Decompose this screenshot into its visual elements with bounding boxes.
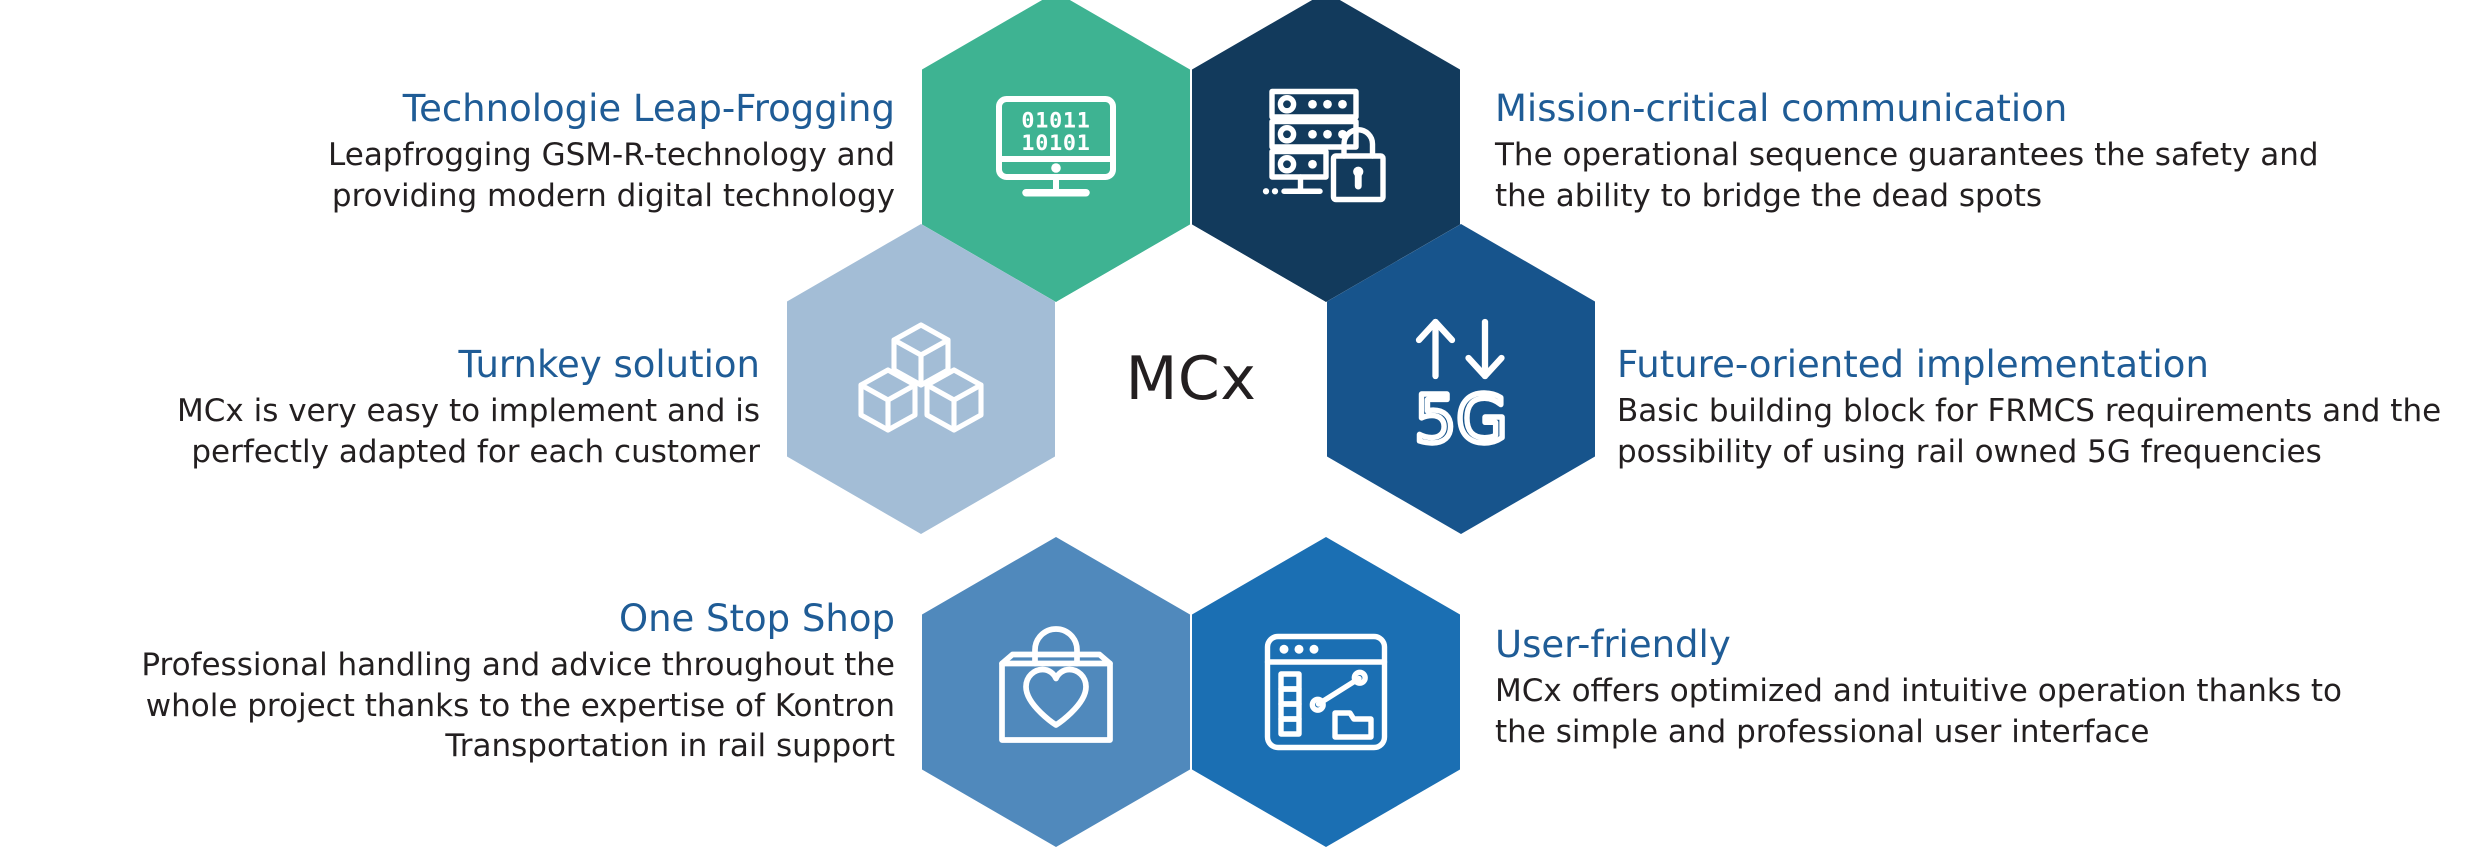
body-line: Transportation in rail support	[445, 728, 895, 764]
body-line: the simple and professional user interfa…	[1495, 714, 2150, 750]
monitor-binary-icon: 01011 10101	[981, 72, 1131, 222]
body-line: possibility of using rail owned 5G frequ…	[1617, 434, 2322, 470]
svg-text:5G: 5G	[1414, 381, 1507, 454]
title-one-stop-shop: One Stop Shop	[130, 598, 895, 639]
title-mission-critical-communication: Mission-critical communication	[1495, 88, 2325, 129]
body-line: Basic building block for FRMCS requireme…	[1617, 393, 2441, 429]
title-user-friendly: User-friendly	[1495, 624, 2395, 665]
shopping-bag-heart-icon	[981, 617, 1131, 767]
text-block-mission-critical-communication: Mission-critical communication The opera…	[1495, 88, 2325, 216]
body-line: whole project thanks to the expertise of…	[146, 688, 895, 724]
title-technologie-leap-frogging: Technologie Leap-Frogging	[230, 88, 895, 129]
body-line: The operational sequence guarantees the …	[1495, 137, 2319, 173]
cubes-icon	[846, 304, 996, 454]
body-line: Leapfrogging GSM-R-technology and	[328, 137, 895, 173]
text-block-future-oriented-implementation: Future-oriented implementation Basic bui…	[1617, 344, 2480, 472]
body-line: the ability to bridge the dead spots	[1495, 178, 2042, 214]
body-technologie-leap-frogging: Leapfrogging GSM-R-technology and provid…	[230, 135, 895, 216]
body-turnkey-solution: MCx is very easy to implement and is per…	[130, 391, 760, 472]
arrows-5g-icon: 5G	[1386, 304, 1536, 454]
center-label: MCx	[1126, 349, 1257, 409]
text-block-one-stop-shop: One Stop Shop Professional handling and …	[130, 598, 895, 766]
title-future-oriented-implementation: Future-oriented implementation	[1617, 344, 2480, 385]
infographic-canvas: 01011 10101	[0, 0, 2480, 839]
body-line: Professional handling and advice through…	[141, 647, 895, 683]
body-mission-critical-communication: The operational sequence guarantees the …	[1495, 135, 2325, 216]
body-user-friendly: MCx offers optimized and intuitive opera…	[1495, 671, 2395, 752]
body-line: providing modern digital technology	[332, 178, 895, 214]
svg-text:10101: 10101	[1021, 131, 1090, 156]
hexagon-user-friendly[interactable]	[1192, 537, 1460, 847]
body-line: MCx offers optimized and intuitive opera…	[1495, 673, 2342, 709]
body-line: MCx is very easy to implement and is	[177, 393, 760, 429]
text-block-user-friendly: User-friendly MCx offers optimized and i…	[1495, 624, 2395, 752]
text-block-technologie-leap-frogging: Technologie Leap-Frogging Leapfrogging G…	[230, 88, 895, 216]
svg-text:01011: 01011	[1021, 109, 1090, 134]
title-turnkey-solution: Turnkey solution	[130, 344, 760, 385]
app-window-chart-icon	[1251, 617, 1401, 767]
server-lock-icon	[1251, 72, 1401, 222]
hexagon-one-stop-shop[interactable]	[922, 537, 1190, 847]
body-one-stop-shop: Professional handling and advice through…	[130, 645, 895, 766]
body-future-oriented-implementation: Basic building block for FRMCS requireme…	[1617, 391, 2480, 472]
text-block-turnkey-solution: Turnkey solution MCx is very easy to imp…	[130, 344, 760, 472]
body-line: perfectly adapted for each customer	[191, 434, 760, 470]
